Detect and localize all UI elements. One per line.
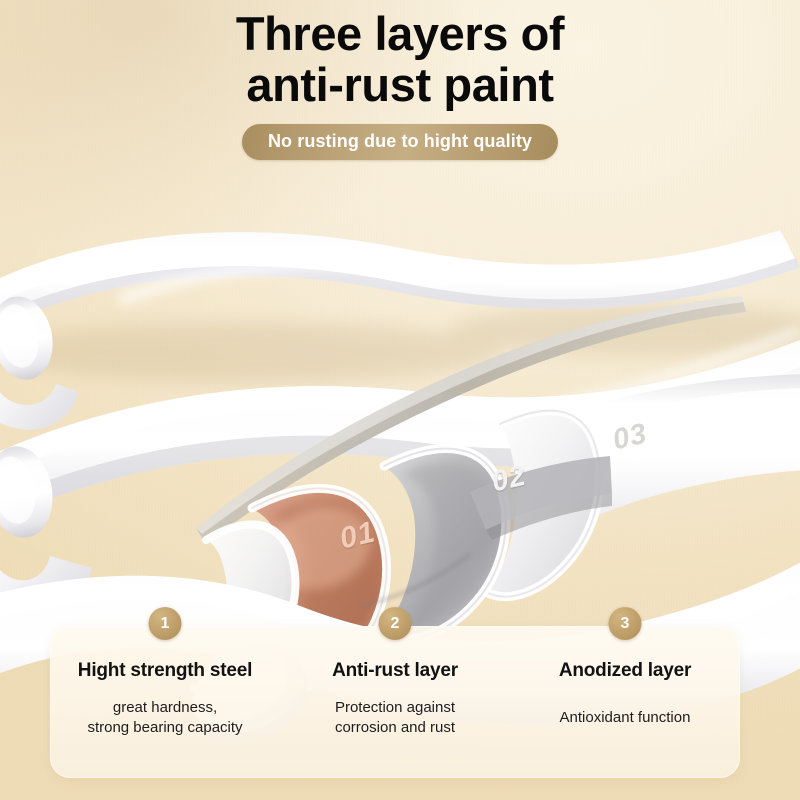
subtitle-badge-wrap: No rusting due to hight quality <box>0 124 800 160</box>
feature-card: 1 Hight strength steel great hardness,st… <box>50 626 740 778</box>
page-title: Three layers of anti-rust paint <box>0 8 800 110</box>
step-number-badge-3: 3 <box>609 607 642 640</box>
feature-body-1: great hardness,strong bearing capacity <box>56 698 274 738</box>
feature-body-3: Antioxidant function <box>516 708 734 728</box>
title-line-1: Three layers of <box>236 7 564 60</box>
feature-body-2: Protection againstcorrosion and rust <box>286 698 504 738</box>
subtitle-badge: No rusting due to hight quality <box>242 124 558 160</box>
title-line-2: anti-rust paint <box>246 58 553 111</box>
step-number-badge-2: 2 <box>379 607 412 640</box>
feature-columns: 1 Hight strength steel great hardness,st… <box>50 626 740 778</box>
header: Three layers of anti-rust paint No rusti… <box>0 8 800 160</box>
feature-column-3: 3 Anodized layer Antioxidant function <box>510 626 740 778</box>
feature-column-1: 1 Hight strength steel great hardness,st… <box>50 626 280 778</box>
step-number-badge-1: 1 <box>149 607 182 640</box>
infographic-canvas: 01 02 03 Three layers of anti-rust paint… <box>0 0 800 800</box>
feature-column-2: 2 Anti-rust layer Protection againstcorr… <box>280 626 510 778</box>
